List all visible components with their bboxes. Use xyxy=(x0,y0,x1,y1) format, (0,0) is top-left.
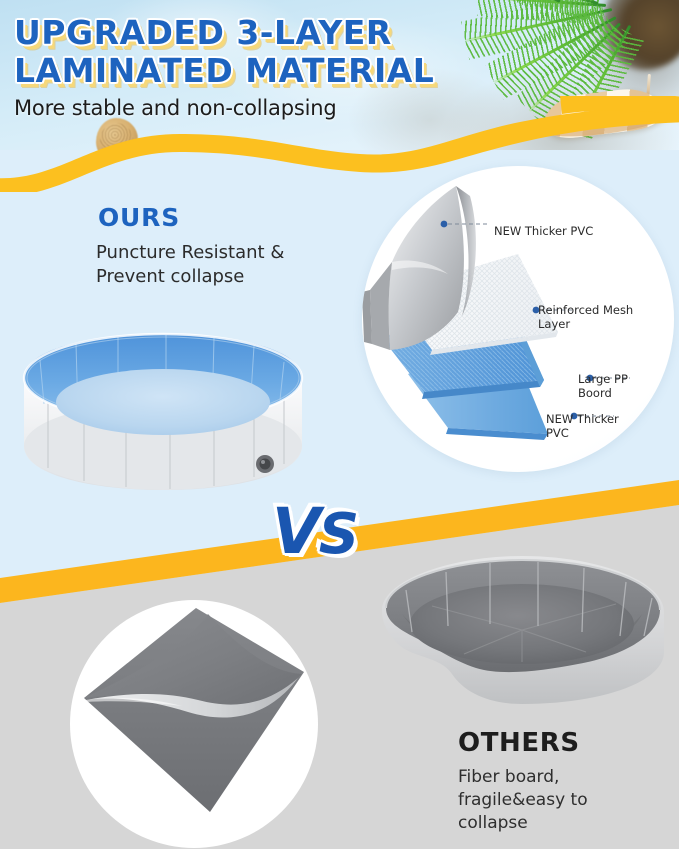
callout-label-pp-board: Large PP Boord xyxy=(578,372,628,400)
single-layer-peel-diagram xyxy=(70,600,318,848)
callout-label-mesh: Reinforced Mesh Layer xyxy=(538,303,633,331)
others-peel-panel xyxy=(70,600,318,848)
callout-label-bottom-pvc: NEW Thicker PVC xyxy=(546,412,619,440)
others-heading: OTHERS xyxy=(458,728,580,758)
subtitle: More stable and non-collapsing xyxy=(14,96,484,120)
title-block: UPGRADED 3-LAYER LAMINATED MATERIAL More… xyxy=(14,14,484,120)
callout-label-top-pvc: NEW Thicker PVC xyxy=(494,224,593,238)
vs-badge: VS xyxy=(272,500,357,567)
ours-heading: OURS xyxy=(98,203,180,232)
beach-umbrella-icon xyxy=(543,86,663,134)
ours-description: Puncture Resistant & Prevent collapse xyxy=(96,241,311,289)
vs-letter-s: S xyxy=(319,502,357,567)
title-line-1: UPGRADED 3-LAYER xyxy=(14,14,484,52)
ours-pool-illustration xyxy=(18,318,308,498)
infographic-root: OURS Puncture Resistant & Prevent collap… xyxy=(0,0,679,849)
others-pool-illustration xyxy=(372,532,672,717)
others-description: Fiber board, fragile&easy to collapse xyxy=(458,766,648,835)
title-line-2: LAMINATED MATERIAL xyxy=(14,52,484,90)
vs-letter-v: V xyxy=(272,495,319,568)
